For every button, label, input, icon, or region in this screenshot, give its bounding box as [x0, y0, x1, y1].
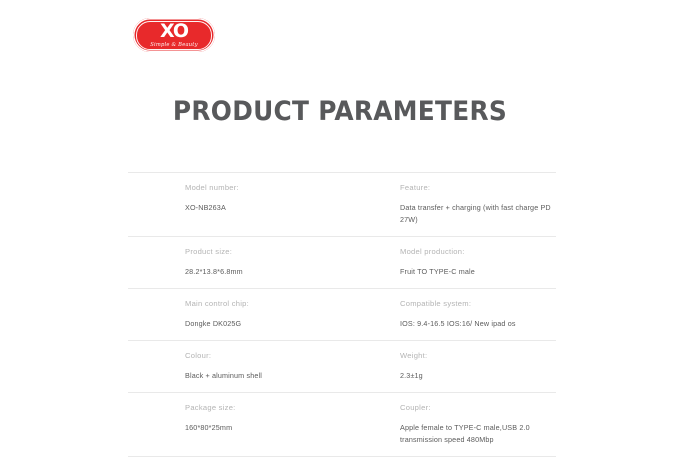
logo-tagline: Simple & Beauty [133, 42, 215, 49]
spec-cell-left: Main control chip: Dongke DK025G [128, 298, 342, 330]
spec-value: Data transfer + charging (with fast char… [400, 202, 556, 226]
spec-label: Model number: [185, 182, 342, 194]
logo-wordmark: XO [133, 21, 215, 41]
spec-value: 2.3±1g [400, 370, 556, 382]
spec-label: Coupler: [400, 402, 556, 414]
spec-value: XO-NB263A [185, 202, 342, 214]
spec-cell-left: Colour: Black + aluminum shell [128, 350, 342, 382]
spec-value: Apple female to TYPE-C male,USB 2.0 tran… [400, 422, 556, 446]
spec-value: 160*80*25mm [185, 422, 342, 434]
spec-label: Feature: [400, 182, 556, 194]
table-row: Package size: 160*80*25mm Coupler: Apple… [128, 393, 556, 457]
brand-logo: XO Simple & Beauty [133, 18, 215, 52]
spec-cell-right: Model production: Fruit TO TYPE-C male [342, 246, 556, 278]
spec-cell-right: Feature: Data transfer + charging (with … [342, 182, 556, 226]
spec-label: Main control chip: [185, 298, 342, 310]
spec-value: Black + aluminum shell [185, 370, 342, 382]
spec-value: 28.2*13.8*6.8mm [185, 266, 342, 278]
spec-cell-right: Weight: 2.3±1g [342, 350, 556, 382]
spec-cell-left: Product size: 28.2*13.8*6.8mm [128, 246, 342, 278]
spec-cell-left: Model number: XO-NB263A [128, 182, 342, 226]
logo-badge: XO Simple & Beauty [133, 18, 215, 52]
table-row: Main control chip: Dongke DK025G Compati… [128, 289, 556, 341]
spec-label: Model production: [400, 246, 556, 258]
spec-label: Colour: [185, 350, 342, 362]
product-parameters-table: Model number: XO-NB263A Feature: Data tr… [128, 172, 556, 457]
spec-label: Product size: [185, 246, 342, 258]
spec-value: Fruit TO TYPE-C male [400, 266, 556, 278]
spec-value: Dongke DK025G [185, 318, 342, 330]
page-title: PRODUCT PARAMETERS [27, 96, 653, 127]
spec-cell-right: Compatible system: IOS: 9.4-16.5 IOS:16/… [342, 298, 556, 330]
spec-cell-left: Package size: 160*80*25mm [128, 402, 342, 446]
spec-value: IOS: 9.4-16.5 IOS:16/ New ipad os [400, 318, 556, 330]
table-row: Model number: XO-NB263A Feature: Data tr… [128, 172, 556, 237]
spec-label: Weight: [400, 350, 556, 362]
spec-label: Compatible system: [400, 298, 556, 310]
table-row: Product size: 28.2*13.8*6.8mm Model prod… [128, 237, 556, 289]
spec-label: Package size: [185, 402, 342, 414]
table-row: Colour: Black + aluminum shell Weight: 2… [128, 341, 556, 393]
spec-cell-right: Coupler: Apple female to TYPE-C male,USB… [342, 402, 556, 446]
